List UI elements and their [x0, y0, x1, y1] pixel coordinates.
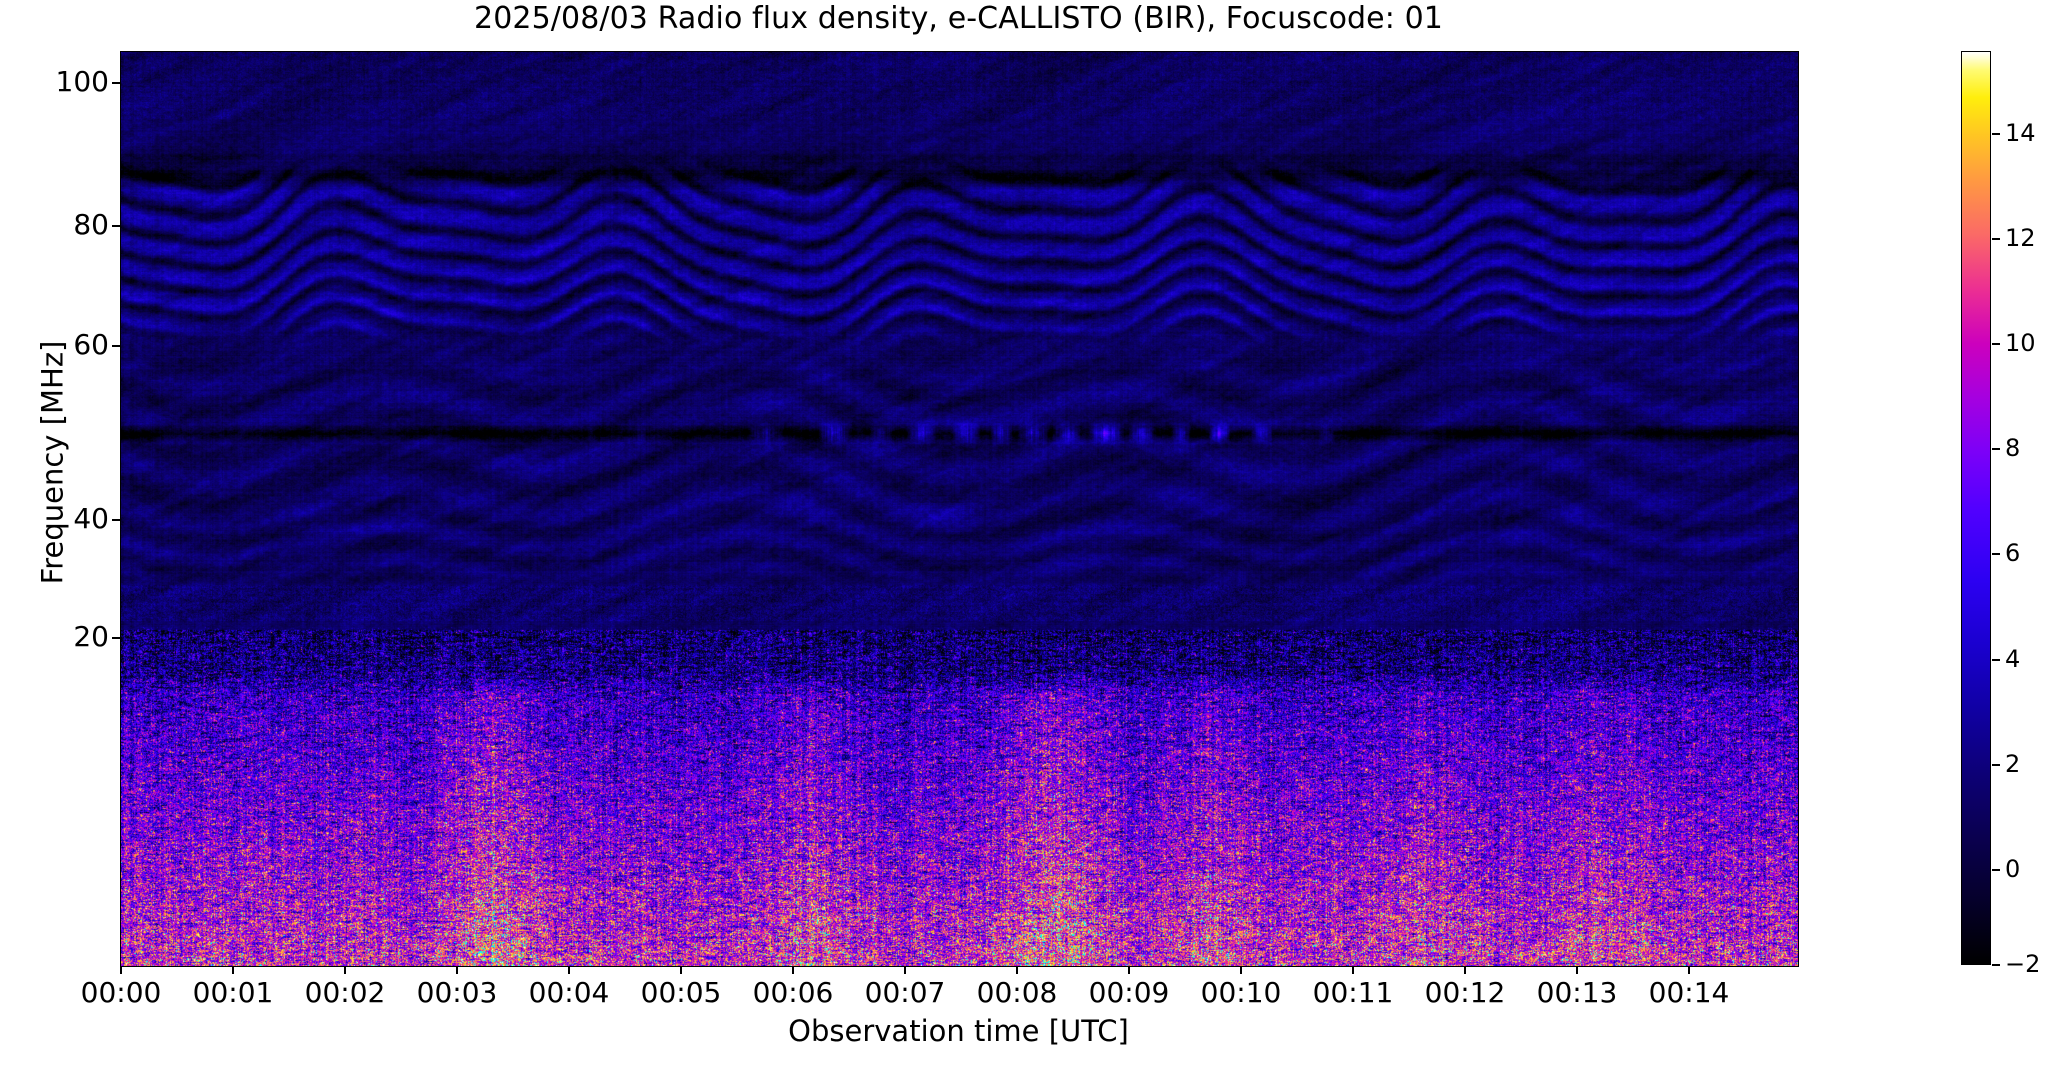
x-tick-mark — [1016, 966, 1018, 974]
spectrogram-axes — [120, 51, 1799, 967]
x-tick-mark — [232, 966, 234, 974]
x-tick-label: 00:02 — [305, 978, 386, 1008]
x-tick-label: 00:08 — [977, 978, 1058, 1008]
colorbar-tick-label: 0 — [2005, 857, 2020, 881]
colorbar-tick-label: 12 — [2005, 226, 2036, 250]
x-tick-label: 00:13 — [1537, 978, 1618, 1008]
colorbar-tick-mark — [1992, 343, 2000, 345]
figure-canvas: 2025/08/03 Radio flux density, e-CALLIST… — [0, 0, 2066, 1067]
x-tick-mark — [1464, 966, 1466, 974]
colorbar-tick-mark — [1992, 133, 2000, 135]
colorbar-tick-mark — [1992, 869, 2000, 871]
spectrogram-image — [121, 52, 1798, 966]
colorbar-tick-label: 10 — [2005, 331, 2036, 355]
x-tick-label: 00:07 — [865, 978, 946, 1008]
colorbar-tick-mark — [1992, 964, 2000, 966]
colorbar-tick-label: 14 — [2005, 121, 2036, 145]
y-tick-label: 20 — [73, 623, 109, 651]
x-tick-label: 00:10 — [1201, 978, 1282, 1008]
x-tick-label: 00:00 — [81, 978, 162, 1008]
x-tick-mark — [456, 966, 458, 974]
y-tick-label: 80 — [73, 211, 109, 239]
x-tick-mark — [1352, 966, 1354, 974]
x-tick-label: 00:14 — [1649, 978, 1730, 1008]
x-tick-label: 00:03 — [417, 978, 498, 1008]
x-tick-mark — [792, 966, 794, 974]
y-axis-label: Frequency [MHz] — [39, 6, 68, 920]
colorbar-tick-mark — [1992, 448, 2000, 450]
x-tick-label: 00:06 — [753, 978, 834, 1008]
y-tick-mark — [112, 519, 120, 521]
colorbar-tick-mark — [1992, 659, 2000, 661]
x-tick-label: 00:01 — [193, 978, 274, 1008]
colorbar: 14 12 10 8 6 4 2 0 −2 — [1961, 51, 1991, 965]
y-tick-label: 60 — [73, 331, 109, 359]
x-tick-mark — [120, 966, 122, 974]
x-tick-mark — [568, 966, 570, 974]
x-tick-mark — [1576, 966, 1578, 974]
x-tick-mark — [680, 966, 682, 974]
x-tick-label: 00:05 — [641, 978, 722, 1008]
x-tick-mark — [1688, 966, 1690, 974]
y-tick-mark — [112, 82, 120, 84]
y-tick-label: 40 — [73, 505, 109, 533]
colorbar-tick-label: 6 — [2005, 541, 2020, 565]
page-title: 2025/08/03 Radio flux density, e-CALLIST… — [0, 2, 1917, 36]
x-tick-mark — [1128, 966, 1130, 974]
colorbar-gradient — [1961, 51, 1991, 965]
x-tick-label: 00:12 — [1425, 978, 1506, 1008]
x-tick-mark — [904, 966, 906, 974]
colorbar-tick-label: 2 — [2005, 752, 2020, 776]
colorbar-tick-label: 8 — [2005, 436, 2020, 460]
colorbar-tick-label: −2 — [2005, 952, 2040, 976]
colorbar-tick-label: 4 — [2005, 647, 2020, 671]
x-axis-label: Observation time [UTC] — [120, 1015, 1797, 1047]
x-tick-mark — [1240, 966, 1242, 974]
y-tick-mark — [112, 637, 120, 639]
x-tick-label: 00:09 — [1089, 978, 1170, 1008]
colorbar-tick-mark — [1992, 238, 2000, 240]
y-tick-mark — [112, 345, 120, 347]
colorbar-tick-mark — [1992, 764, 2000, 766]
y-tick-mark — [112, 225, 120, 227]
x-tick-mark — [344, 966, 346, 974]
colorbar-tick-mark — [1992, 553, 2000, 555]
x-tick-label: 00:11 — [1313, 978, 1394, 1008]
x-tick-label: 00:04 — [529, 978, 610, 1008]
